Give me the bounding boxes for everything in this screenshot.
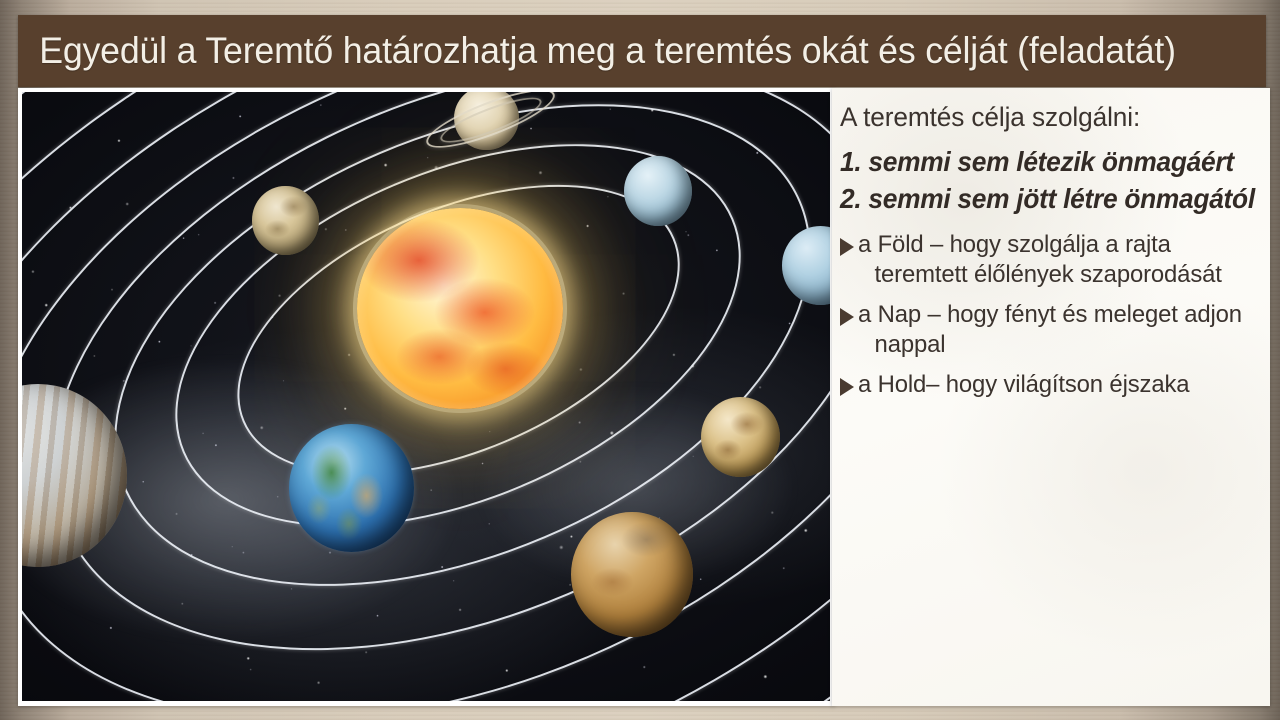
content-text-panel: A teremtés célja szolgálni: 1. semmi sem… — [832, 88, 1270, 706]
solar-system-image — [22, 92, 830, 701]
purpose-bullet-list: a Föld – hogy szolgálja a rajta teremtet… — [840, 230, 1260, 400]
triangle-bullet-icon — [840, 238, 854, 256]
bullet-text-moon: a Hold– hogy világítson éjszaka — [857, 370, 1189, 400]
planet-mercury — [252, 186, 318, 254]
planet-earth — [289, 424, 414, 552]
numbered-item-1: 1. semmi sem létezik önmagáért — [840, 143, 1235, 181]
triangle-bullet-icon — [840, 308, 854, 326]
planet-uranus — [624, 156, 692, 226]
lead-statement: A teremtés célja szolgálni: — [840, 102, 1247, 134]
numbered-statements-list: 1. semmi sem létezik önmagáért 2. semmi … — [840, 143, 1260, 218]
list-item: a Nap – hogy fényt és meleget adjon napp… — [840, 300, 1260, 359]
planet-mars — [571, 512, 692, 637]
planet-venus — [701, 397, 780, 477]
bullet-line-2: teremtett élőlények szaporodását — [858, 260, 1222, 290]
triangle-bullet-icon — [840, 378, 854, 396]
bullet-line-2: nappal — [858, 330, 1242, 360]
list-item: a Föld – hogy szolgálja a rajta teremtet… — [840, 230, 1260, 289]
list-item: a Hold– hogy világítson éjszaka — [840, 370, 1260, 400]
bullet-line-1: a Föld – hogy szolgálja a rajta — [858, 231, 1171, 258]
planet-sun — [357, 208, 563, 409]
slide-title-bar: Egyedül a Teremtő határozhatja meg a ter… — [18, 15, 1266, 87]
bullet-line-1: a Nap – hogy fényt és meleget adjon — [858, 301, 1242, 328]
solar-system-image-frame — [18, 88, 834, 706]
bullet-line-1: a Hold– hogy világítson éjszaka — [858, 371, 1189, 398]
page-title: Egyedül a Teremtő határozhatja meg a ter… — [18, 30, 1176, 72]
bullet-text-earth: a Föld – hogy szolgálja a rajta teremtet… — [857, 230, 1222, 289]
numbered-item-2: 2. semmi sem jött létre önmagától — [840, 180, 1235, 218]
bullet-text-sun: a Nap – hogy fényt és meleget adjon napp… — [857, 300, 1242, 359]
